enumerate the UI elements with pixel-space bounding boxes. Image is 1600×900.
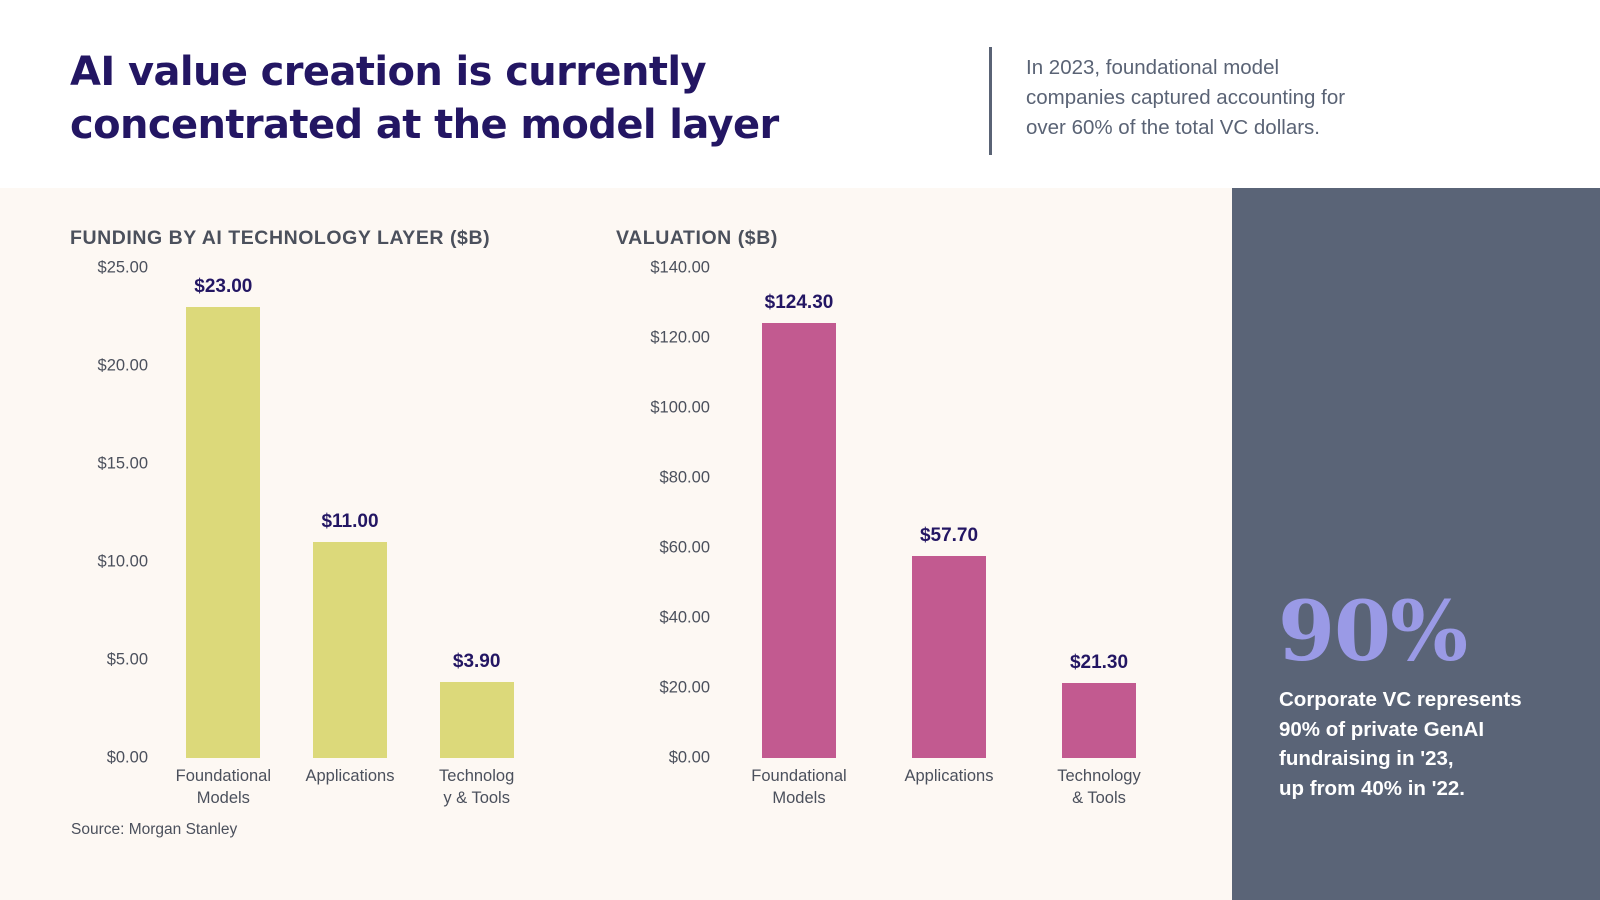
subtitle: In 2023, foundational model companies ca… (1026, 53, 1456, 143)
valuation-bar[interactable] (762, 323, 836, 758)
funding-bar-group[interactable]: $3.90Technology & Tools (413, 268, 540, 758)
category-label-line: Foundational (743, 766, 855, 788)
funding-bar-category-label: Applications (294, 766, 406, 788)
valuation-ytick-label: $100.00 (650, 399, 710, 418)
valuation-chart-title: VALUATION ($B) (616, 227, 778, 250)
valuation-bar-category-label: Applications (893, 766, 1005, 788)
valuation-ytick-label: $140.00 (650, 259, 710, 278)
funding-bar-value-label: $11.00 (321, 511, 378, 533)
valuation-bar-category-label: FoundationalModels (743, 766, 855, 810)
funding-bar[interactable] (313, 542, 387, 758)
category-label-line: Technolog (421, 766, 533, 788)
funding-bar-category-label: Technology & Tools (421, 766, 533, 810)
valuation-bar[interactable] (912, 556, 986, 758)
valuation-ytick-label: $60.00 (660, 539, 710, 558)
valuation-y-axis: $0.00$20.00$40.00$60.00$80.00$100.00$120… (616, 268, 710, 758)
funding-chart-panel: FUNDING BY AI TECHNOLOGY LAYER ($B) $0.0… (0, 188, 600, 900)
valuation-ytick-label: $120.00 (650, 329, 710, 348)
category-label-line: Models (743, 788, 855, 810)
funding-bar-value-label: $23.00 (194, 276, 252, 298)
funding-ytick-label: $25.00 (98, 259, 148, 278)
funding-bar[interactable] (440, 682, 514, 758)
valuation-ytick-label: $80.00 (660, 469, 710, 488)
funding-ytick-label: $10.00 (98, 553, 148, 572)
valuation-bars: $124.30FoundationalModels$57.70Applicati… (724, 268, 1174, 758)
category-label-line: & Tools (1043, 788, 1155, 810)
funding-chart-plot: $0.00$5.00$10.00$15.00$20.00$25.00 $23.0… (70, 268, 540, 758)
valuation-ytick-label: $40.00 (660, 609, 710, 628)
page-title: AI value creation is currently concentra… (70, 46, 950, 152)
valuation-bar-group[interactable]: $21.30Technology& Tools (1024, 268, 1174, 758)
header-divider (989, 47, 992, 155)
category-label-line: Technology (1043, 766, 1155, 788)
stat-description-line-2: 90% of private GenAI (1279, 715, 1579, 745)
stat-big-value: 90% (1278, 591, 1467, 673)
funding-bar-group[interactable]: $23.00FoundationalModels (160, 268, 287, 758)
category-label-line: y & Tools (421, 788, 533, 810)
category-label-line: Applications (893, 766, 1005, 788)
funding-chart-title: FUNDING BY AI TECHNOLOGY LAYER ($B) (70, 227, 490, 250)
header: AI value creation is currently concentra… (0, 0, 1600, 188)
subtitle-line-3: over 60% of the total VC dollars. (1026, 113, 1456, 143)
infographic-root: AI value creation is currently concentra… (0, 0, 1600, 900)
valuation-bar-value-label: $21.30 (1070, 652, 1128, 674)
valuation-bar-value-label: $124.30 (765, 292, 834, 314)
stat-description-line-3: fundraising in '23, (1279, 744, 1579, 774)
subtitle-line-1: In 2023, foundational model (1026, 53, 1456, 83)
funding-ytick-label: $0.00 (107, 749, 148, 768)
funding-ytick-label: $20.00 (98, 357, 148, 376)
valuation-bar-value-label: $57.70 (920, 525, 978, 547)
funding-ytick-label: $5.00 (107, 651, 148, 670)
source-attribution: Source: Morgan Stanley (71, 821, 237, 839)
funding-bar-group[interactable]: $11.00Applications (287, 268, 414, 758)
funding-bars: $23.00FoundationalModels$11.00Applicatio… (160, 268, 540, 758)
valuation-bar-category-label: Technology& Tools (1043, 766, 1155, 810)
category-label-line: Foundational (167, 766, 279, 788)
funding-bar-value-label: $3.90 (453, 651, 501, 673)
valuation-bar-group[interactable]: $57.70Applications (874, 268, 1024, 758)
stat-description-line-1: Corporate VC represents (1279, 685, 1579, 715)
valuation-ytick-label: $20.00 (660, 679, 710, 698)
valuation-chart-panel: VALUATION ($B) $0.00$20.00$40.00$60.00$8… (548, 188, 1248, 900)
stat-panel: 90% Corporate VC represents 90% of priva… (1232, 188, 1600, 900)
funding-bar-category-label: FoundationalModels (167, 766, 279, 810)
valuation-bar[interactable] (1062, 683, 1136, 758)
funding-y-axis: $0.00$5.00$10.00$15.00$20.00$25.00 (70, 268, 148, 758)
funding-ytick-label: $15.00 (98, 455, 148, 474)
valuation-chart-plot: $0.00$20.00$40.00$60.00$80.00$100.00$120… (616, 268, 1176, 758)
valuation-ytick-label: $0.00 (669, 749, 710, 768)
stat-description: Corporate VC represents 90% of private G… (1279, 685, 1579, 803)
valuation-bar-group[interactable]: $124.30FoundationalModels (724, 268, 874, 758)
headline-line-2: concentrated at the model layer (70, 99, 950, 152)
subtitle-line-2: companies captured accounting for (1026, 83, 1456, 113)
category-label-line: Applications (294, 766, 406, 788)
funding-bar[interactable] (186, 307, 260, 758)
category-label-line: Models (167, 788, 279, 810)
headline-line-1: AI value creation is currently (70, 46, 950, 99)
stat-description-line-4: up from 40% in '22. (1279, 774, 1579, 804)
